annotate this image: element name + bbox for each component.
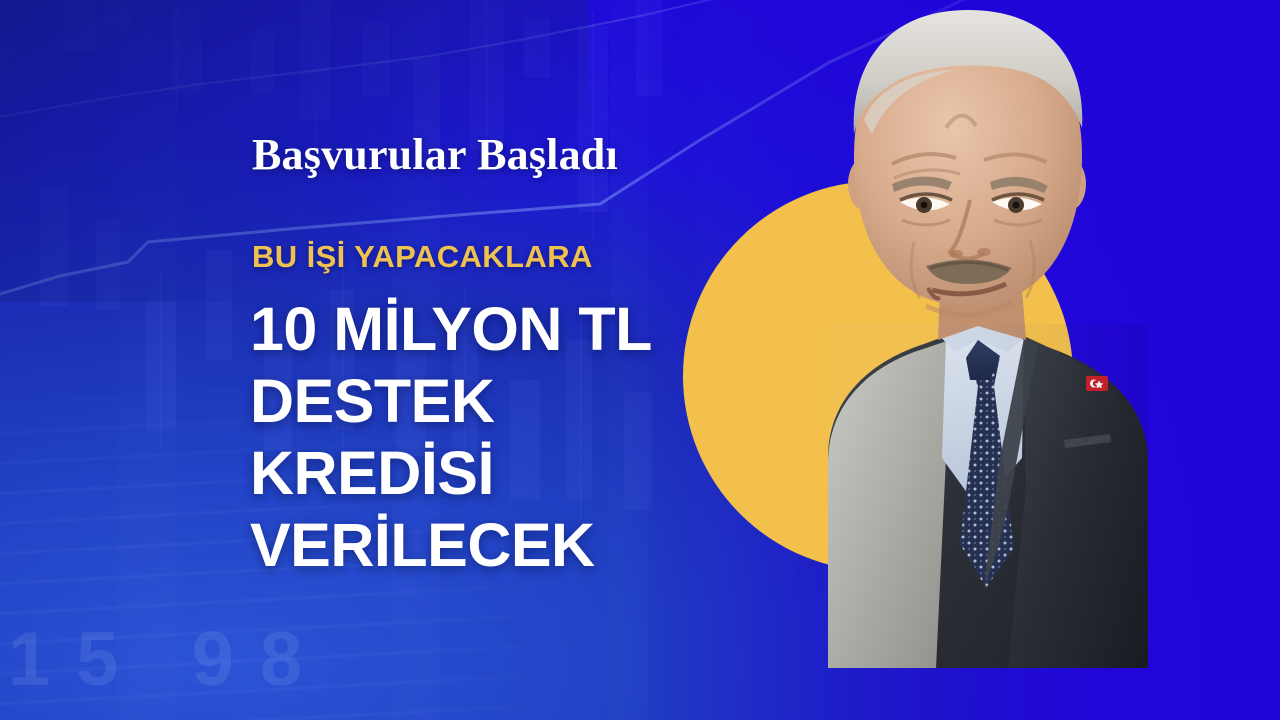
- headline-line-2: DESTEK: [250, 365, 720, 437]
- kicker-text: Başvurular Başladı: [252, 129, 618, 181]
- sleeve-strip: [1218, 322, 1229, 662]
- eyebrow-text: BU İŞİ YAPACAKLARA: [252, 238, 593, 276]
- headline-line-4: VERİLECEK: [250, 509, 720, 581]
- news-cover-graphic: 15 98: [0, 0, 1280, 720]
- headline-line-1: 10 MİLYON TL: [250, 293, 720, 365]
- headline: 10 MİLYON TL DESTEK KREDİSİ VERİLECEK: [250, 293, 720, 581]
- politician-portrait: [678, 0, 1238, 668]
- headline-line-3: KREDİSİ: [250, 437, 720, 509]
- background-coin-digits: 15 98: [0, 600, 640, 720]
